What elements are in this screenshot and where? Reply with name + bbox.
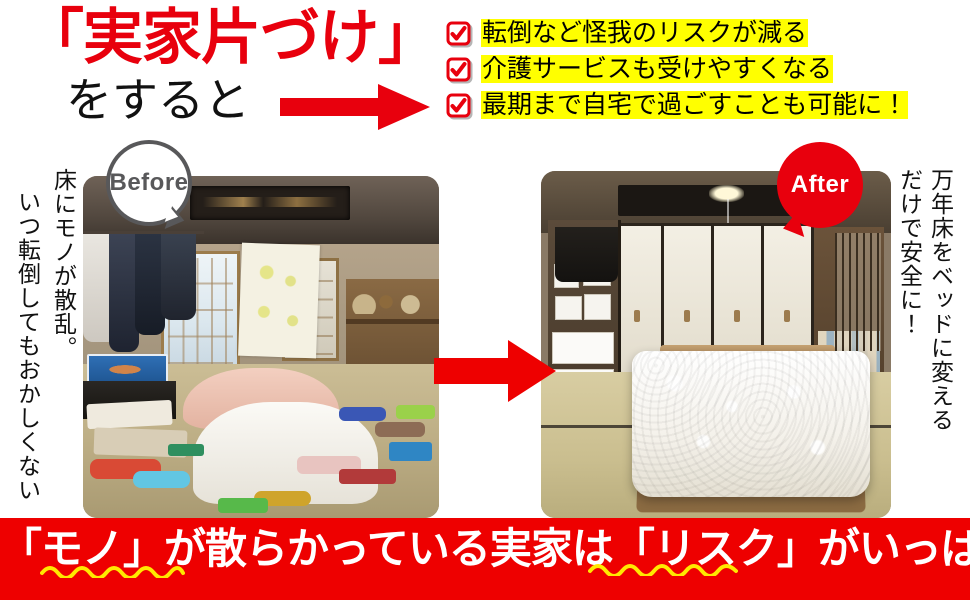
benefits-checklist: 転倒など怪我のリスクが減る 介護サービスも受けやすくなる 最期まで自宅で過ごすこ… <box>446 18 962 126</box>
headline-line-1: 「実家片づけ」 <box>24 6 437 69</box>
before-hanging-clothes <box>83 234 200 357</box>
before-photo-scene <box>83 176 439 518</box>
underline-squiggle-mono <box>40 562 185 578</box>
after-caption-line-2: だけで安全に！ <box>894 168 923 513</box>
benefit-label: 転倒など怪我のリスクが減る <box>481 19 808 47</box>
before-photo <box>83 176 439 518</box>
headline-arrow-right-icon <box>280 84 430 130</box>
before-badge-label: Before <box>109 169 188 197</box>
before-caption-line-1: 床にモノが散乱。 <box>48 168 77 508</box>
headline-close-bracket: 」 <box>378 4 437 71</box>
benefit-label: 最期まで自宅で過ごすことも可能に！ <box>481 91 908 119</box>
before-caption-line-2: いつ転倒してもおかしくない <box>12 190 41 512</box>
benefit-item: 最期まで自宅で過ごすことも可能に！ <box>446 90 962 120</box>
after-badge-label: After <box>791 171 850 199</box>
headline-line-2: をすると <box>66 76 250 124</box>
benefit-label: 介護サービスも受けやすくなる <box>481 55 833 83</box>
underline-squiggle-risk <box>588 560 738 576</box>
headline-open-bracket: 「 <box>24 4 83 71</box>
after-bed-mattress <box>632 351 870 497</box>
before-clutter-pile <box>83 395 439 518</box>
after-hanging-bag <box>555 227 618 283</box>
before-badge: Before <box>106 140 192 226</box>
transition-arrow-right-icon <box>434 338 556 404</box>
after-badge: After <box>777 142 863 228</box>
headline-keyword: 実家片づけ <box>83 4 378 71</box>
benefit-item: 介護サービスも受けやすくなる <box>446 54 962 84</box>
bottom-banner: 「モノ」が散らかっている実家は「リスク」がいっぱい！ <box>0 518 970 600</box>
before-hanging-cloth <box>238 243 320 359</box>
checkbox-checked-icon <box>446 57 471 82</box>
poster-root: 「実家片づけ」 をすると 転倒など怪我のリスクが減る <box>0 0 970 600</box>
after-lattice-screen <box>835 233 881 351</box>
before-shelf <box>346 279 439 368</box>
before-transom <box>190 186 350 220</box>
after-caption-line-1: 万年床をベッドに変える <box>925 168 954 513</box>
benefit-item: 転倒など怪我のリスクが減る <box>446 18 962 48</box>
checkbox-checked-icon <box>446 93 471 118</box>
checkbox-checked-icon <box>446 21 471 46</box>
